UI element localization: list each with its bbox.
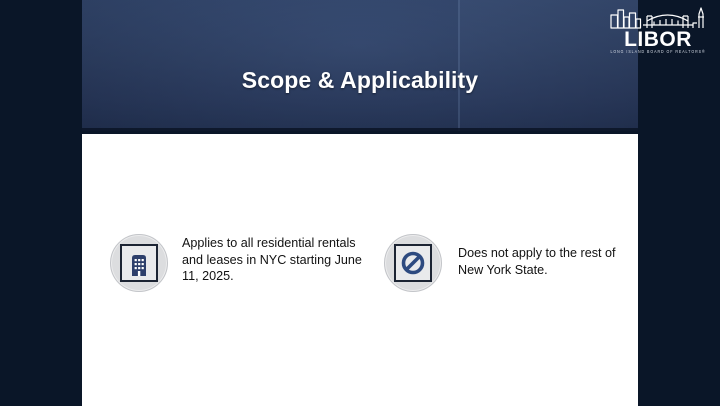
slide-frame: Scope & Applicability [0,0,720,406]
office-building-icon-badge [110,234,168,292]
libor-logo: LIBOR LONG ISLAND BOARD OF REALTORS® [606,6,710,56]
header-vignette [82,0,638,131]
prohibition-sign-icon-badge [384,234,442,292]
slide-body: Applies to all residential rentals and l… [82,134,638,406]
list-item: Does not apply to the rest of New York S… [384,234,634,292]
bullet-list: Applies to all residential rentals and l… [82,234,638,292]
slide-header [82,0,638,131]
header-bottom-edge [82,128,638,131]
logo-wordmark: LIBOR [606,30,710,49]
prohibition-sign-icon [394,244,432,282]
list-item-label: Does not apply to the rest of New York S… [458,234,634,278]
office-building-icon [120,244,158,282]
list-item: Applies to all residential rentals and l… [110,234,378,292]
skyline-bridge-icon [608,6,708,29]
logo-tagline: LONG ISLAND BOARD OF REALTORS® [606,49,710,56]
list-item-label: Applies to all residential rentals and l… [182,234,378,285]
page-title: Scope & Applicability [0,67,720,94]
